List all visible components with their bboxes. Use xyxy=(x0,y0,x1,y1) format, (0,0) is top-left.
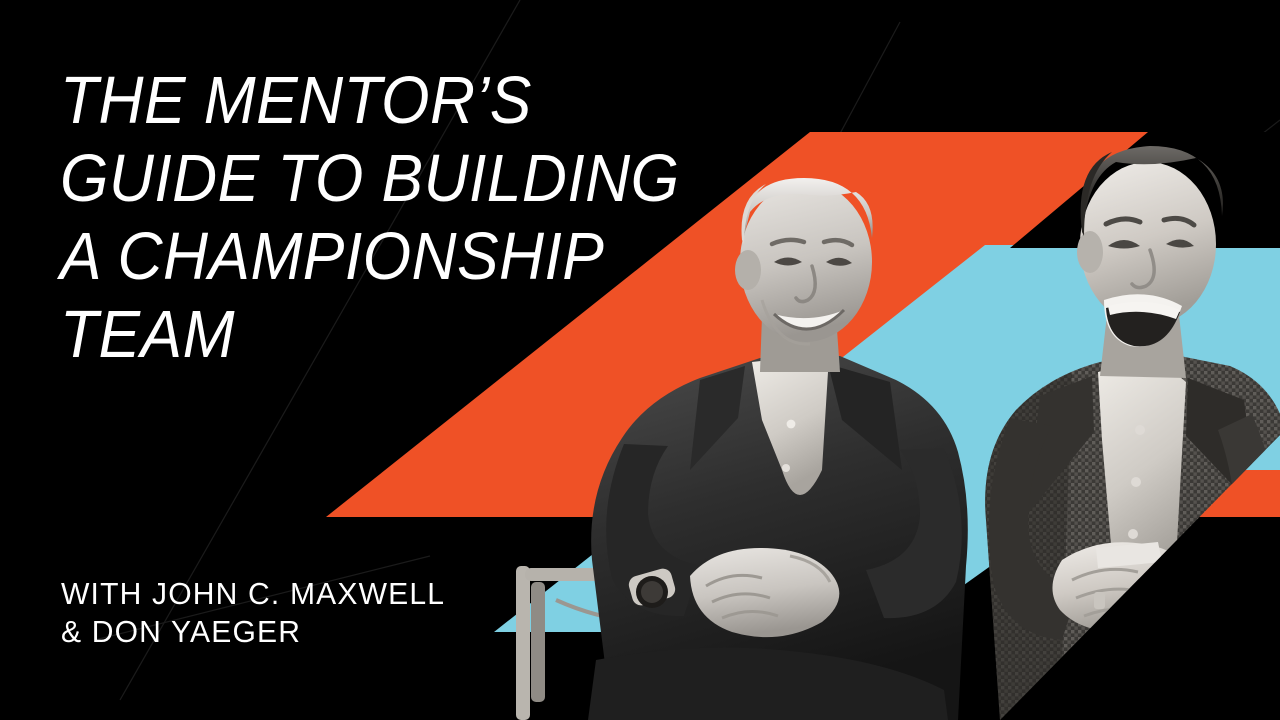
yaeger-pocket-square xyxy=(1200,538,1236,556)
portrait-layer xyxy=(0,0,1280,720)
portrait-don-yaeger xyxy=(985,146,1280,720)
portrait-john-c-maxwell xyxy=(516,178,968,720)
slide-canvas: THE MENTOR’S GUIDE TO BUILDING A CHAMPIO… xyxy=(0,0,1280,720)
yaeger-wristwatch xyxy=(1167,554,1216,594)
yaeger-hands xyxy=(1052,542,1194,633)
